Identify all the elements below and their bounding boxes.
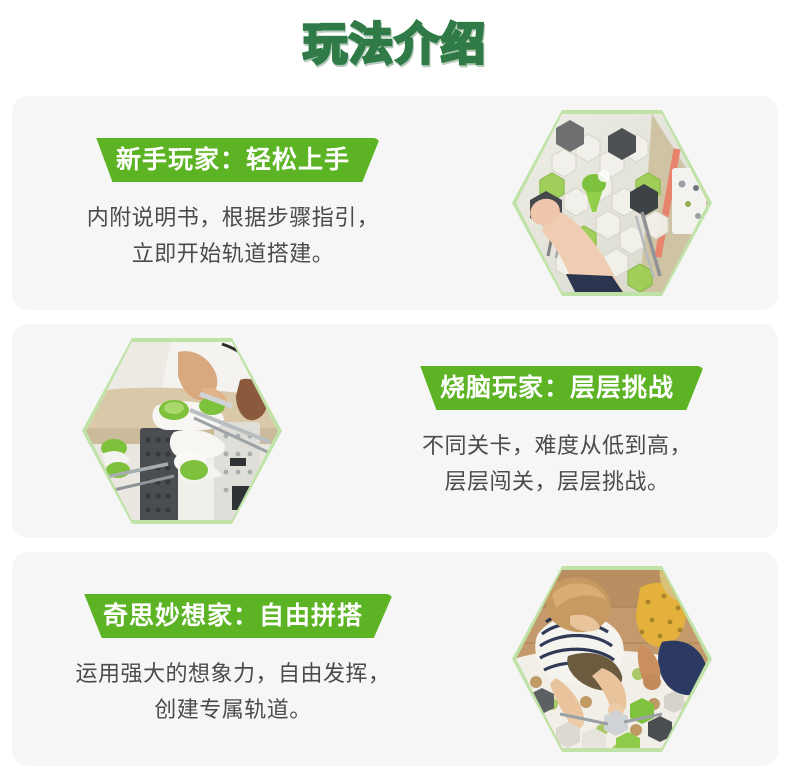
card-1-banner: 新手玩家：轻松上手	[86, 138, 380, 182]
feature-card-creative: 奇思妙想家：自由拼搭 运用强大的想象力，自由发挥， 创建专属轨道。	[12, 552, 778, 766]
feature-card-challenge: 烧脑玩家：层层挑战 不同关卡，难度从低到高， 层层闯关，层层挑战。	[12, 324, 778, 538]
card-2-banner-label: 烧脑玩家：层层挑战	[440, 366, 674, 410]
card-1-hex-photo	[512, 108, 712, 298]
card-3-banner-label: 奇思妙想家：自由拼搭	[103, 594, 363, 638]
hexagon-photo-icon	[512, 108, 712, 298]
page-title: 玩法介绍	[303, 23, 487, 67]
card-3-banner: 奇思妙想家：自由拼搭	[73, 594, 393, 638]
card-3-body-text: 运用强大的想象力，自由发挥， 创建专属轨道。	[75, 656, 390, 728]
hexagon-photo-icon	[512, 564, 712, 754]
promo-page: 玩法介绍 新手玩家：轻松上手 内附说明书，根据步骤指引， 立即开始轨道搭建。	[0, 0, 790, 773]
feature-card-beginner: 新手玩家：轻松上手 内附说明书，根据步骤指引， 立即开始轨道搭建。	[12, 96, 778, 310]
card-3-text-column: 奇思妙想家：自由拼搭 运用强大的想象力，自由发挥， 创建专属轨道。	[18, 552, 448, 766]
hexagon-photo-icon	[82, 336, 282, 526]
page-title-container: 玩法介绍	[0, 14, 790, 76]
card-1-text-column: 新手玩家：轻松上手 内附说明书，根据步骤指引， 立即开始轨道搭建。	[18, 96, 448, 310]
card-2-hex-photo	[82, 336, 282, 526]
card-3-hex-photo	[512, 564, 712, 754]
card-2-text-column: 烧脑玩家：层层挑战 不同关卡，难度从低到高， 层层闯关，层层挑战。	[342, 324, 772, 538]
card-2-body-text: 不同关卡，难度从低到高， 层层闯关，层层挑战。	[422, 428, 692, 500]
card-2-banner: 烧脑玩家：层层挑战	[410, 366, 704, 410]
card-1-body-text: 内附说明书，根据步骤指引， 立即开始轨道搭建。	[87, 200, 380, 272]
card-1-banner-label: 新手玩家：轻松上手	[116, 138, 350, 182]
